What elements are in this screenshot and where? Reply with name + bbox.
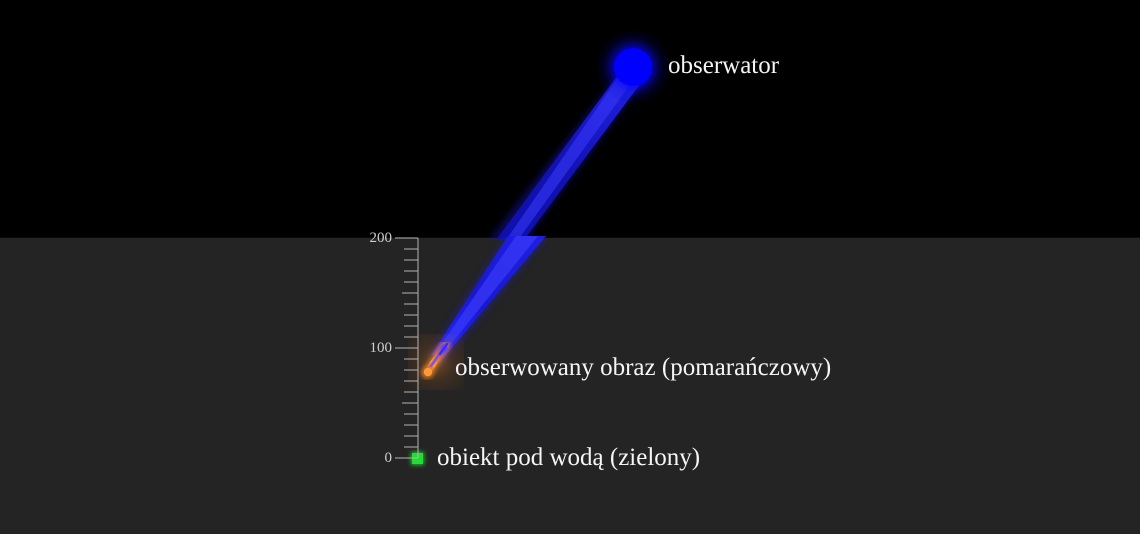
refraction-diagram-canvas: obserwowany obraz (pomarańczowy) obserwa… [0, 0, 1140, 534]
axis-tick-label-0: 0 [352, 451, 392, 466]
observer-label: obserwator [668, 50, 779, 81]
air-region [0, 0, 1140, 238]
underwater-object-label: obiekt pod wodą (zielony) [437, 442, 700, 473]
underwater-object-marker[interactable] [412, 453, 423, 464]
observed-image-label: obserwowany obraz (pomarańczowy) [455, 352, 831, 383]
axis-tick-label-200: 200 [352, 231, 392, 246]
axis-tick-label-100: 100 [352, 341, 392, 356]
water-surface-line [0, 237, 1140, 238]
water-region [0, 238, 1140, 534]
observer-marker[interactable] [614, 48, 652, 86]
